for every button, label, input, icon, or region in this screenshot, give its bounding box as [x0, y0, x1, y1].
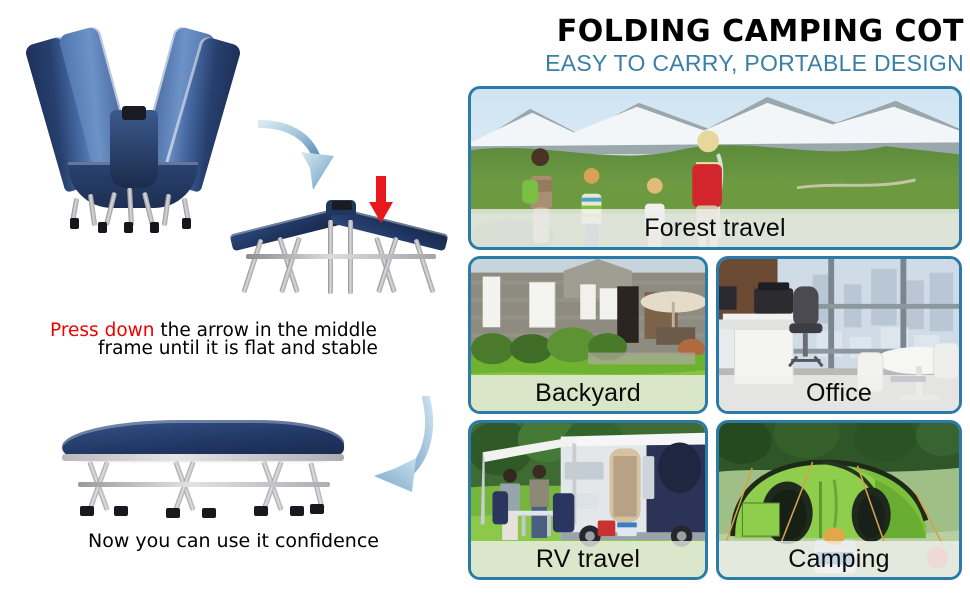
usage-scenes-panel: FOLDING CAMPING COT EASY TO CARRY, PORTA… — [460, 0, 970, 600]
page-title: FOLDING CAMPING COT — [460, 14, 964, 49]
half-cot-crossbar — [246, 254, 436, 259]
flat-cot-foot — [310, 504, 324, 514]
half-folded-cot-illustration — [228, 192, 450, 304]
flat-cot-illustration — [62, 412, 344, 520]
flat-cot-side-rail — [62, 454, 344, 461]
folded-cot-center-fabric — [110, 110, 158, 188]
flat-cot-foot — [166, 508, 180, 518]
red-down-arrow-icon — [368, 176, 394, 224]
page-subtitle: EASY TO CARRY, PORTABLE DESIGN — [460, 50, 964, 77]
folded-cot-illustration — [38, 22, 228, 227]
folded-cot-foot — [124, 222, 133, 233]
folded-cot-foot — [150, 222, 159, 233]
flat-cot-crossbar — [78, 482, 330, 487]
blue-curved-arrow-2-icon — [330, 396, 440, 508]
caption-bar: RV travel — [471, 541, 705, 577]
folded-cot-foot — [98, 222, 107, 233]
photo-rv-travel: RV travel — [468, 420, 708, 580]
photo-caption: Forest travel — [644, 214, 786, 243]
flat-cot-foot — [290, 506, 304, 516]
instruction-line-2: frame until it is flat and stable — [98, 338, 378, 359]
instruction-line-3: Now you can use it confidence — [88, 530, 379, 552]
photo-camping: Camping — [716, 420, 962, 580]
photo-office: Office — [716, 256, 962, 414]
folded-cot-foot — [182, 218, 191, 229]
photo-caption: Backyard — [535, 379, 641, 408]
half-cot-center-hinge — [332, 201, 352, 210]
photo-caption: RV travel — [536, 545, 640, 574]
photo-caption: Office — [806, 379, 872, 408]
photo-backyard: Backyard — [468, 256, 708, 414]
photo-forest-travel: Forest travel — [468, 86, 962, 250]
flat-cot-foot — [114, 506, 128, 516]
instruction-panel: Press down the arrow in the middle frame… — [0, 0, 460, 600]
caption-bar: Office — [719, 375, 959, 411]
caption-bar: Forest travel — [471, 209, 959, 247]
folded-cot-foot — [70, 218, 79, 229]
folded-cot-hinge — [122, 106, 146, 120]
flat-cot-foot — [80, 506, 94, 516]
flat-cot-foot — [254, 506, 268, 516]
flat-cot-foot — [202, 508, 216, 518]
photo-caption: Camping — [788, 545, 889, 574]
caption-bar: Camping — [719, 541, 959, 577]
caption-bar: Backyard — [471, 375, 705, 411]
